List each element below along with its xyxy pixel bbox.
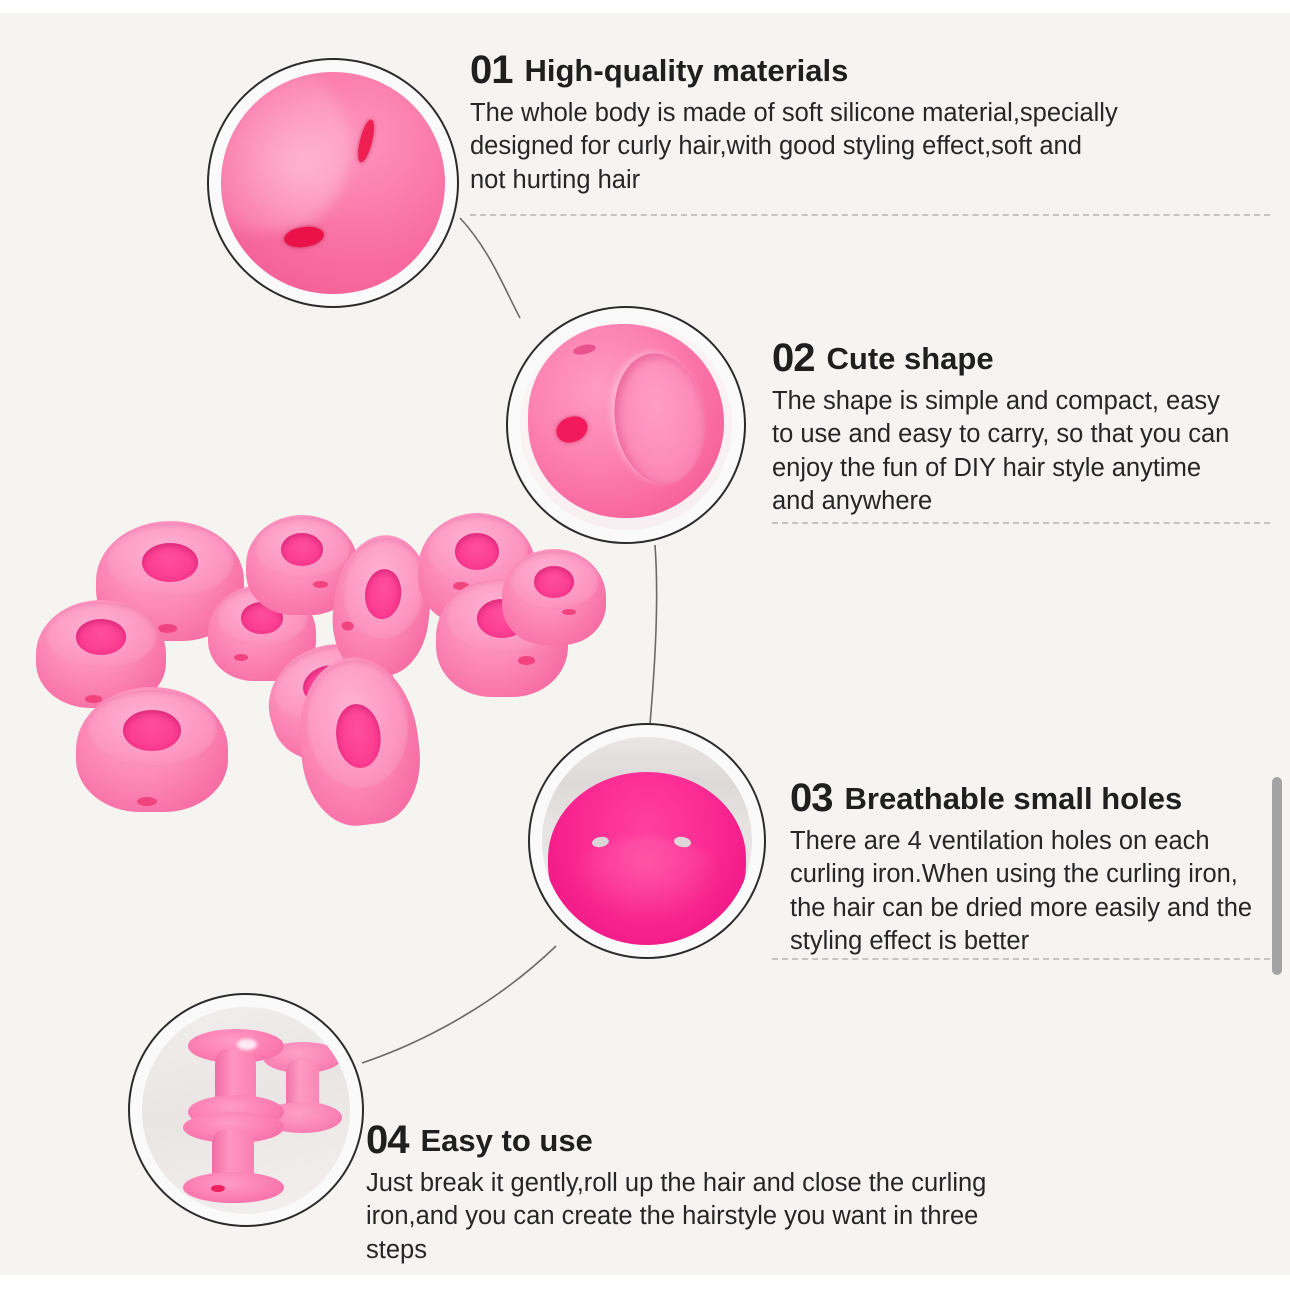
feature-description: The shape is simple and compact, easy to… [772, 385, 1272, 519]
feature-description: The whole body is made of soft silicone … [470, 97, 1170, 197]
feature-block-03: 03Breathable small holes There are 4 ven… [790, 776, 1280, 959]
feature-number: 04 [366, 1118, 409, 1162]
feature-title: High-quality materials [525, 53, 849, 88]
feature-number: 01 [470, 48, 513, 92]
feature-block-04: 04Easy to use Just break it gently,roll … [366, 1118, 1046, 1267]
feature-number: 03 [790, 776, 833, 820]
callout-photo-02 [506, 306, 746, 544]
roller-item [76, 687, 228, 812]
feature-block-02: 02Cute shape The shape is simple and com… [772, 336, 1272, 519]
feature-description: Just break it gently,roll up the hair an… [366, 1167, 1046, 1267]
feature-number: 02 [772, 336, 815, 380]
feature-divider [470, 214, 1270, 216]
spool-roller [183, 1112, 283, 1203]
feature-heading: 04Easy to use [366, 1118, 1046, 1163]
feature-title: Breathable small holes [845, 781, 1183, 816]
feature-description: There are 4 ventilation holes on each cu… [790, 825, 1280, 959]
infographic-page: 01High-quality materials The whole body … [0, 0, 1290, 1290]
feature-block-01: 01High-quality materials The whole body … [470, 48, 1170, 197]
product-photo-pile [18, 505, 608, 850]
callout-photo-04 [128, 993, 364, 1227]
feature-heading: 02Cute shape [772, 336, 1272, 381]
feature-heading: 03Breathable small holes [790, 776, 1280, 821]
feature-heading: 01High-quality materials [470, 48, 1170, 93]
vent-hole-icon [355, 118, 378, 164]
feature-title: Easy to use [421, 1123, 593, 1158]
vertical-scrollbar-thumb[interactable] [1272, 777, 1282, 975]
callout-photo-01 [207, 58, 459, 308]
callout-photo-03 [528, 723, 766, 959]
feature-divider [772, 522, 1270, 524]
roller-item [290, 650, 428, 831]
roller-item [502, 549, 606, 645]
feature-title: Cute shape [827, 341, 994, 376]
feature-divider [772, 958, 1270, 960]
